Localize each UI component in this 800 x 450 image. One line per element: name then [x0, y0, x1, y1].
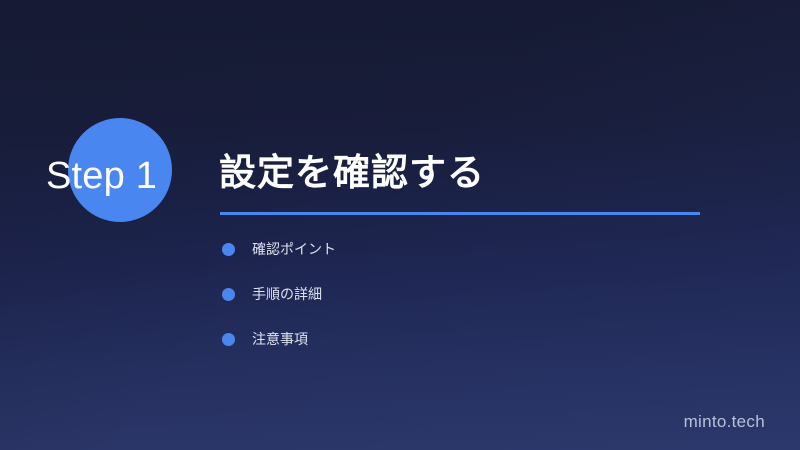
- bullet-list: 確認ポイント 手順の詳細 注意事項: [222, 242, 336, 377]
- bullet-dot-icon: [222, 333, 235, 346]
- bullet-dot-icon: [222, 288, 235, 301]
- slide-canvas: Step 1 設定を確認する 確認ポイント 手順の詳細 注意事項 minto.t…: [0, 0, 800, 450]
- title-divider: [220, 212, 700, 215]
- page-title: 設定を確認する: [219, 150, 485, 196]
- list-item-label: 確認ポイント: [252, 242, 336, 256]
- footer-watermark: minto.tech: [684, 412, 765, 432]
- list-item-label: 手順の詳細: [252, 287, 322, 301]
- bullet-dot-icon: [222, 243, 235, 256]
- list-item: 注意事項: [222, 332, 336, 346]
- list-item: 手順の詳細: [222, 287, 336, 301]
- step-badge-label: Step 1: [46, 154, 206, 198]
- list-item-label: 注意事項: [252, 332, 308, 346]
- list-item: 確認ポイント: [222, 242, 336, 256]
